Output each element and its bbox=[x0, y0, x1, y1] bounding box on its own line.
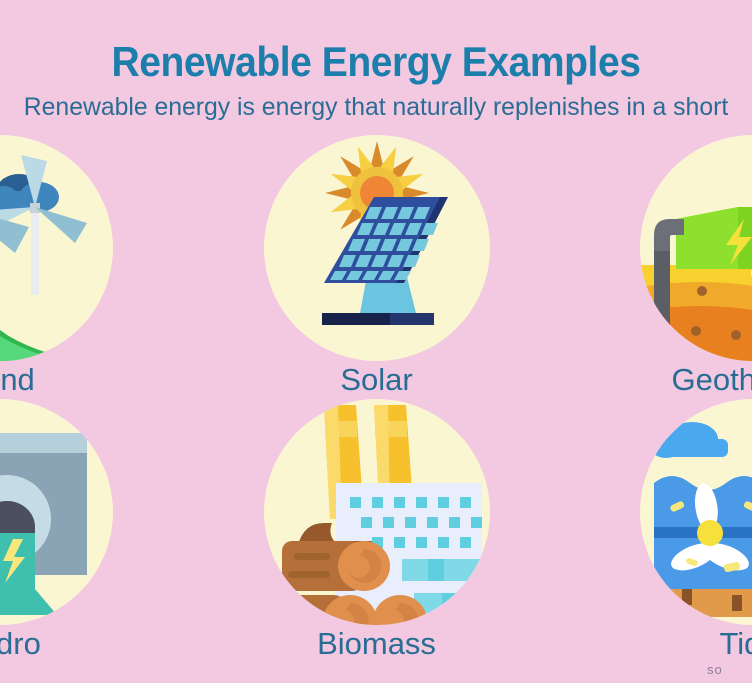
page-title: Renewable Energy Examples bbox=[26, 38, 725, 86]
grid-item-solar: Solar bbox=[251, 130, 502, 398]
header: Renewable Energy Examples Renewable ener… bbox=[0, 0, 752, 130]
source-watermark: so bbox=[707, 662, 723, 677]
wind-turbine-icon bbox=[0, 135, 113, 361]
item-label-geothermal: Geothermal bbox=[627, 362, 752, 398]
tidal-turbine-icon bbox=[640, 399, 752, 625]
item-label-biomass: Biomass bbox=[251, 626, 502, 662]
solar-panel-icon bbox=[264, 135, 490, 361]
item-label-solar: Solar bbox=[251, 362, 502, 398]
geothermal-plant-icon bbox=[640, 135, 752, 361]
grid-item-wind: Wind bbox=[0, 130, 125, 398]
page-subtitle: Renewable energy is energy that naturall… bbox=[4, 93, 748, 122]
grid-item-tidal: Tidal bbox=[627, 394, 752, 662]
biomass-plant-icon bbox=[264, 399, 490, 625]
hydro-dam-icon bbox=[0, 399, 113, 625]
grid-item-hydro: Hydro bbox=[0, 394, 125, 662]
grid-item-biomass: Biomass bbox=[251, 394, 502, 662]
energy-examples-grid: Wind bbox=[0, 130, 752, 683]
grid-item-geothermal: Geothermal bbox=[627, 130, 752, 398]
item-label-hydro: Hydro bbox=[0, 626, 125, 662]
infographic-page: Renewable Energy Examples Renewable ener… bbox=[0, 0, 752, 683]
item-label-wind: Wind bbox=[0, 362, 125, 398]
item-label-tidal: Tidal bbox=[627, 626, 752, 662]
